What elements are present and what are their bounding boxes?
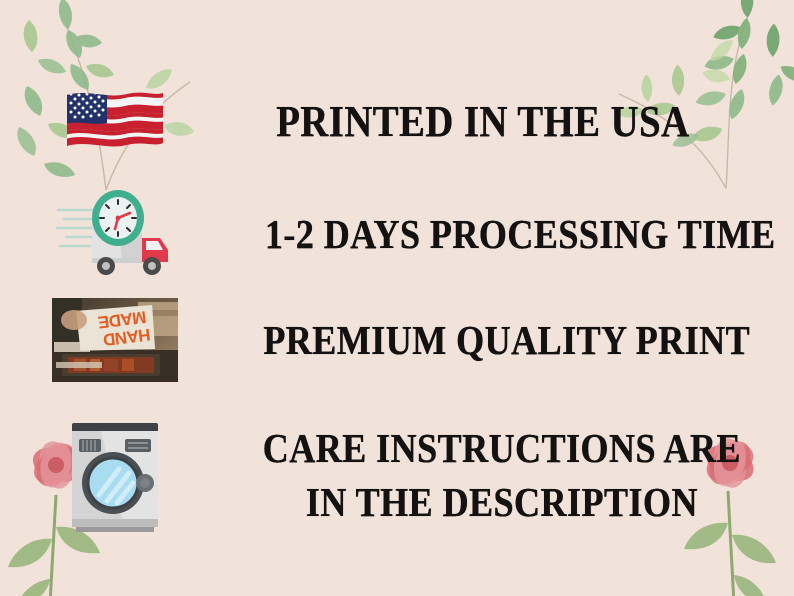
icon-cell-usa-flag (0, 87, 230, 157)
icon-cell-screen-printing-photo: HAND MADE (0, 298, 230, 382)
text-cell-premium-quality: PREMIUM QUALITY PRINT (230, 318, 794, 362)
icon-cell-washing-machine (0, 415, 230, 535)
text-cell-processing-time: 1-2 DAYS PROCESSING TIME (230, 212, 794, 256)
headline-care-instructions-line1: CARE INSTRUCTIONS ARE (263, 426, 741, 470)
icon-cell-delivery-truck (0, 188, 230, 280)
screen-printing-photo: HAND MADE (52, 298, 178, 382)
feature-row-printed-in-usa: PRINTED IN THE USA (0, 74, 794, 170)
headline-care-instructions-line2: IN THE DESCRIPTION (306, 480, 698, 524)
text-cell-care-instructions: CARE INSTRUCTIONS ARE IN THE DESCRIPTION (230, 426, 794, 524)
fast-delivery-truck-clock-icon (56, 188, 174, 280)
headline-premium-quality: PREMIUM QUALITY PRINT (263, 318, 750, 362)
usa-flag-icon (65, 87, 165, 157)
product-info-graphic: PRINTED IN THE USA (0, 0, 794, 596)
feature-row-premium-quality: HAND MADE PREMIUM QUALITY PRINT (0, 292, 794, 388)
text-cell-printed-in-usa: PRINTED IN THE USA (230, 98, 794, 146)
washing-machine-icon (65, 415, 165, 535)
headline-printed-in-usa: PRINTED IN THE USA (276, 98, 689, 146)
feature-row-care-instructions: CARE INSTRUCTIONS ARE IN THE DESCRIPTION (0, 400, 794, 550)
feature-row-processing-time: 1-2 DAYS PROCESSING TIME (0, 186, 794, 282)
headline-processing-time: 1-2 DAYS PROCESSING TIME (265, 212, 776, 256)
